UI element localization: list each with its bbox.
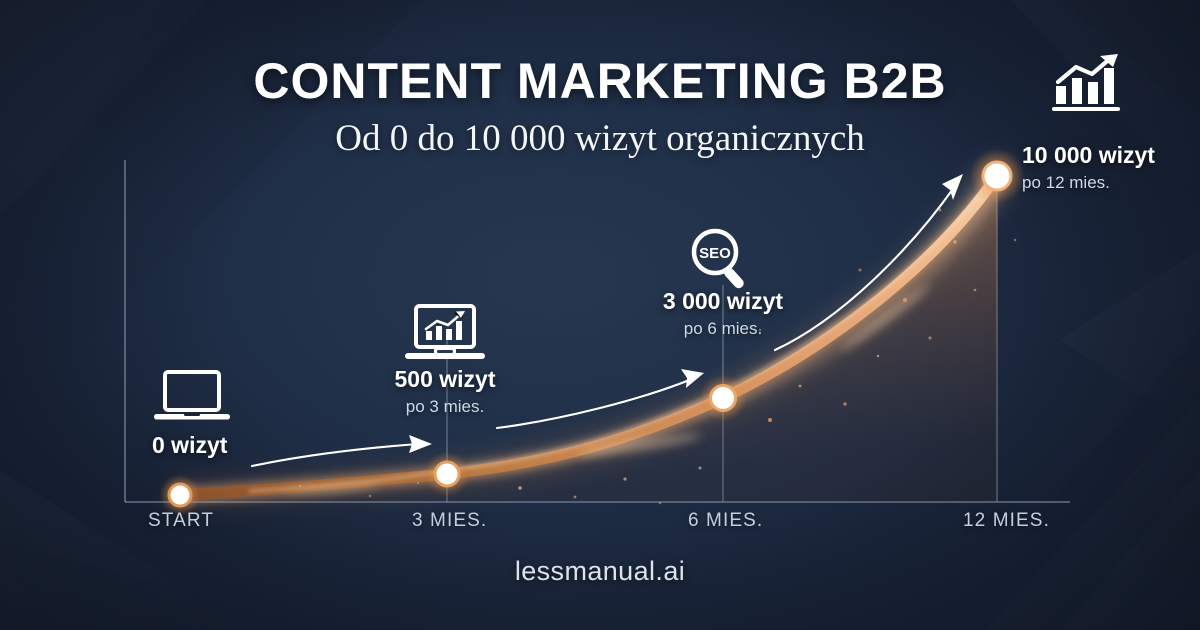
milestone-time-month3: po 3 mies. <box>295 397 595 417</box>
axis-label-month6: 6 MIES. <box>688 510 763 532</box>
milestone-label-month6: 3 000 wizyt po 6 mies. <box>573 288 873 339</box>
laptop-chart-icon <box>402 303 488 369</box>
axis-label-start: START <box>148 510 214 532</box>
page-subtitle: Od 0 do 10 000 wizyt organicznych <box>0 117 1200 160</box>
milestone-value-month6: 3 000 wizyt <box>573 288 873 315</box>
page-title: CONTENT MARKETING B2B <box>0 52 1200 110</box>
milestone-value-start: 0 wizyt <box>152 432 227 459</box>
milestone-label-month12: 10 000 wizyt po 12 mies. <box>1022 142 1155 193</box>
milestone-time-month6: po 6 mies. <box>573 319 873 339</box>
brand-watermark: lessmanual.ai <box>0 556 1200 587</box>
axis-label-month3: 3 MIES. <box>412 510 487 532</box>
milestone-time-month12: po 12 mies. <box>1022 173 1155 193</box>
milestone-label-month3: 500 wizyt po 3 mies. <box>295 366 595 417</box>
svg-text:SEO: SEO <box>699 245 731 262</box>
seo-magnifier-icon: SEO <box>687 226 759 292</box>
axis-label-month12: 12 MIES. <box>963 510 1050 532</box>
infographic-canvas: CONTENT MARKETING B2B Od 0 do 10 000 wiz… <box>0 0 1200 630</box>
milestone-value-month12: 10 000 wizyt <box>1022 142 1155 169</box>
milestone-label-start: 0 wizyt <box>152 432 227 459</box>
milestone-value-month3: 500 wizyt <box>295 366 595 393</box>
bar-chart-arrow-icon <box>1050 52 1126 114</box>
laptop-blank-icon <box>152 368 232 430</box>
arrow-start-to-3m <box>252 444 418 466</box>
